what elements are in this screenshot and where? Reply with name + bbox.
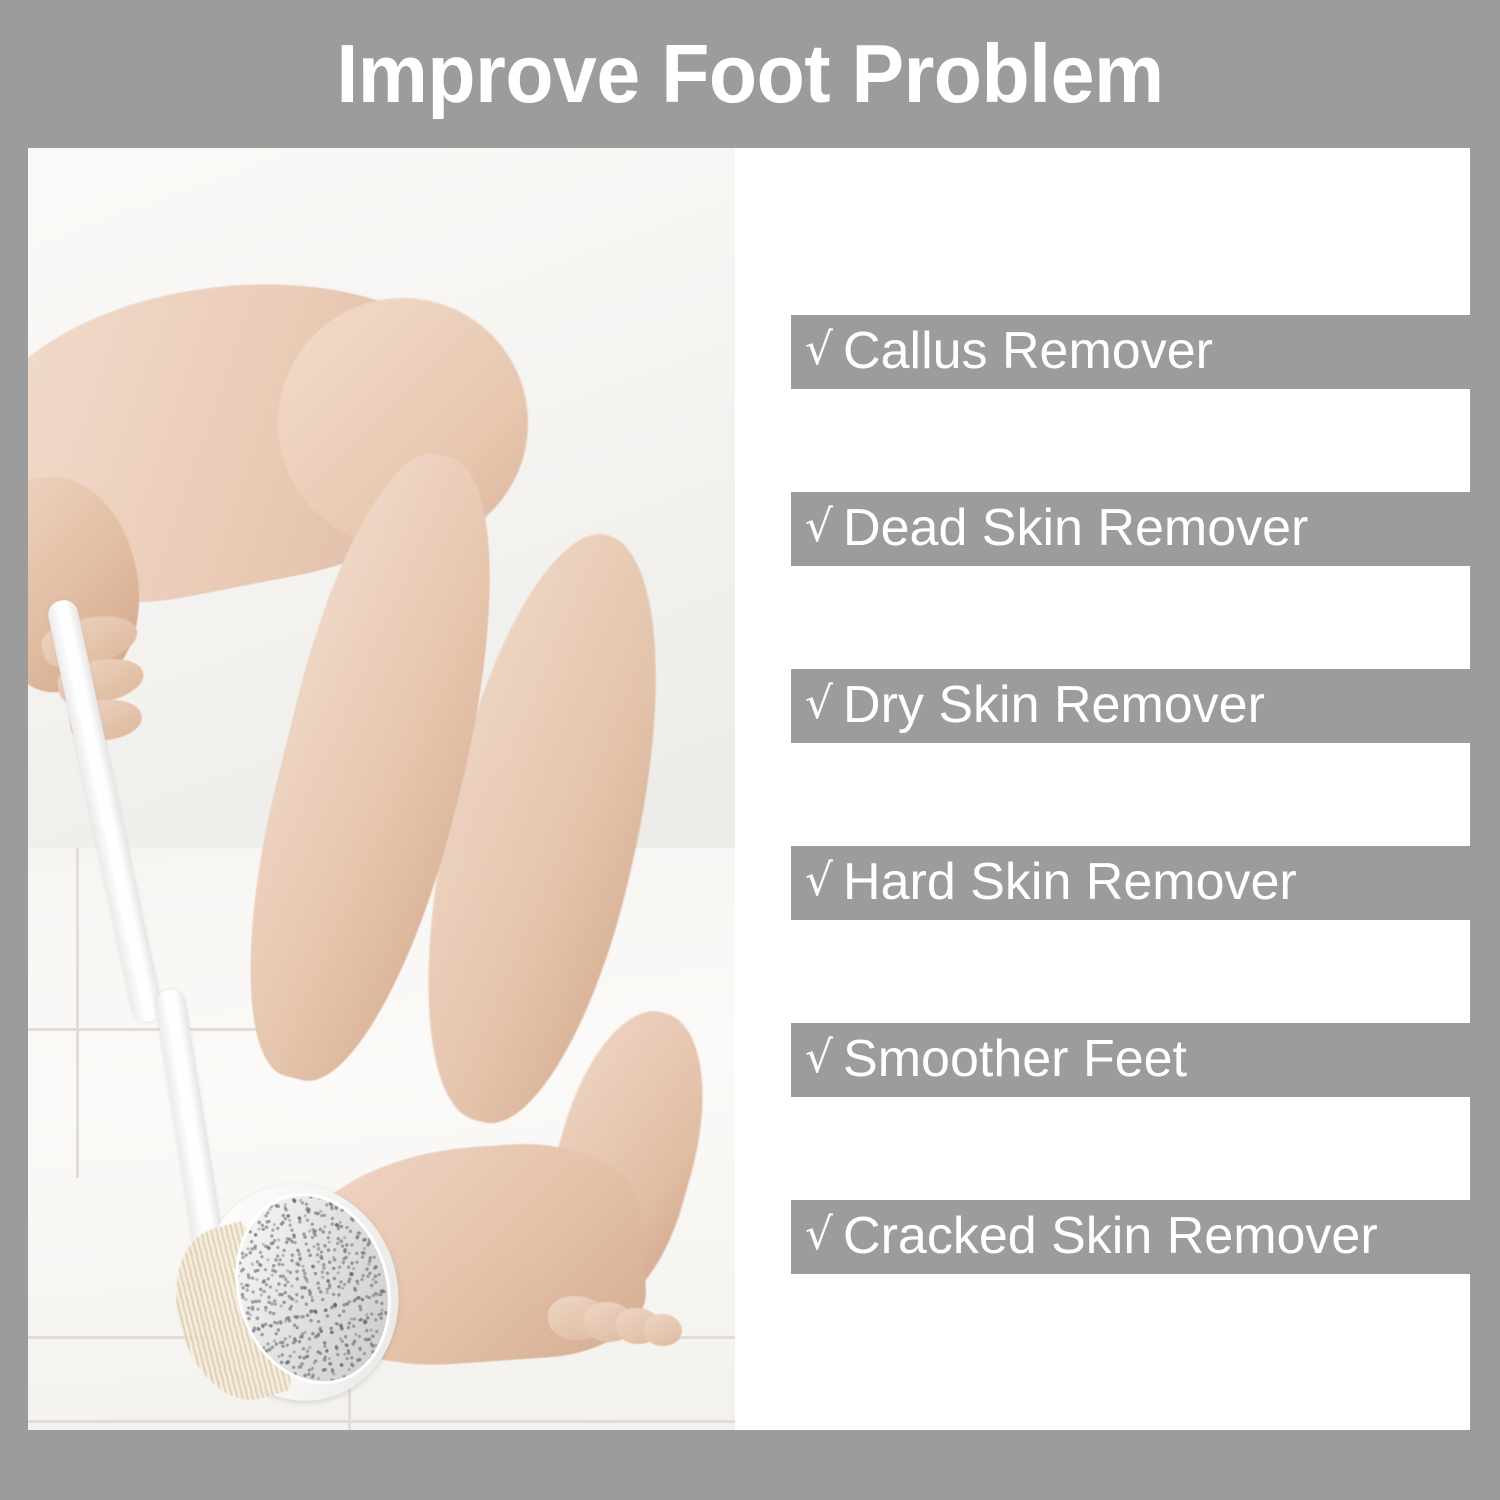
- grout-line-vertical: [76, 848, 79, 1178]
- feature-label: Dry Skin Remover: [843, 679, 1265, 731]
- check-icon: √: [805, 859, 833, 903]
- page-title: Improve Foot Problem: [38, 26, 1463, 122]
- feature-item-cracked-skin-remover[interactable]: √ Cracked Skin Remover: [791, 1200, 1470, 1274]
- toe: [644, 1314, 682, 1346]
- feature-item-dead-skin-remover[interactable]: √ Dead Skin Remover: [791, 492, 1470, 566]
- check-icon: √: [805, 682, 833, 726]
- feature-item-smoother-feet[interactable]: √ Smoother Feet: [791, 1023, 1470, 1097]
- infographic-root: Improve Foot Problem: [0, 0, 1500, 1500]
- check-icon: √: [805, 505, 833, 549]
- feature-item-hard-skin-remover[interactable]: √ Hard Skin Remover: [791, 846, 1470, 920]
- feature-item-dry-skin-remover[interactable]: √ Dry Skin Remover: [791, 669, 1470, 743]
- feature-item-callus-remover[interactable]: √ Callus Remover: [791, 315, 1470, 389]
- feature-label: Smoother Feet: [843, 1033, 1187, 1085]
- grout-line-horizontal: [28, 1420, 735, 1423]
- feature-label: Callus Remover: [843, 325, 1213, 377]
- check-icon: √: [805, 1036, 833, 1080]
- product-photo: [28, 148, 735, 1430]
- feature-label: Hard Skin Remover: [843, 856, 1297, 908]
- feature-label: Cracked Skin Remover: [843, 1210, 1378, 1262]
- feature-list: √ Callus Remover √ Dead Skin Remover √ D…: [735, 148, 1470, 1430]
- check-icon: √: [805, 1213, 833, 1257]
- check-icon: √: [805, 328, 833, 372]
- feature-label: Dead Skin Remover: [843, 502, 1308, 554]
- content-panel: √ Callus Remover √ Dead Skin Remover √ D…: [28, 148, 1470, 1430]
